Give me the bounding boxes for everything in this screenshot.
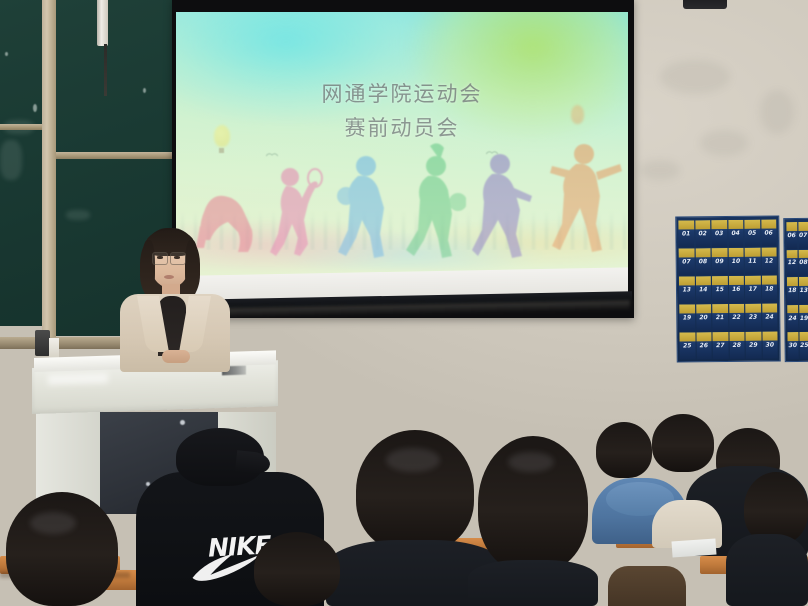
slide-title-line-2: 赛前动员会	[176, 112, 628, 142]
pocket-number: 18	[765, 286, 773, 293]
pocket-number: 08	[699, 258, 707, 265]
slide-title-line-1: 网通学院运动会	[176, 78, 628, 108]
pocket-number: 19	[800, 314, 808, 321]
pocket-number: 13	[800, 287, 808, 294]
chalk-speck	[33, 104, 37, 112]
pocket-25[interactable]: 25	[679, 332, 695, 359]
pocket-24[interactable]: 24	[762, 303, 778, 330]
pocket-number: 10	[732, 258, 740, 265]
presenter-eye	[157, 256, 163, 259]
pocket-number: 22	[732, 314, 740, 321]
chalkboard-rail	[0, 124, 48, 130]
audience-head	[6, 492, 118, 606]
hanging-cable	[104, 44, 107, 96]
hair-highlight	[508, 452, 554, 472]
pocket-side-30[interactable]: 30	[787, 332, 798, 359]
presenter-hair-side	[142, 240, 155, 296]
pocket-02[interactable]: 02	[695, 220, 711, 247]
pocket-20[interactable]: 20	[696, 304, 712, 331]
pocket-14[interactable]: 14	[695, 276, 711, 303]
pocket-number: 24	[788, 315, 796, 322]
pocket-number: 16	[732, 286, 740, 293]
pocket-side-18[interactable]: 18	[787, 277, 798, 304]
pocket-22[interactable]: 22	[729, 304, 745, 331]
presenter-mouth	[164, 275, 174, 279]
athlete-tennis-silhouette	[268, 164, 324, 260]
pocket-number: 08	[799, 259, 807, 266]
pocket-side-07[interactable]: 07	[798, 222, 808, 249]
pocket-12[interactable]: 12	[761, 247, 777, 274]
audience-head	[596, 422, 652, 478]
chalk-stick[interactable]	[49, 338, 59, 358]
presenter	[118, 222, 236, 368]
presenter-eye	[174, 256, 180, 259]
hair-highlight	[386, 448, 440, 472]
athlete-runner-silhouette	[544, 138, 622, 256]
chalk-speck	[5, 52, 8, 56]
bird-icon	[266, 152, 278, 157]
chalkboard-rail	[46, 152, 174, 159]
pocket-number: 29	[749, 342, 757, 349]
pocket-10[interactable]: 10	[728, 248, 744, 275]
pocket-13[interactable]: 13	[679, 276, 695, 303]
pocket-11[interactable]: 11	[745, 248, 761, 275]
pocket-side-08[interactable]: 08	[798, 249, 808, 276]
athlete-basketball-silhouette	[332, 152, 396, 262]
wall-smudge	[700, 130, 748, 156]
pocket-08[interactable]: 08	[695, 248, 711, 275]
presenter-hair-side	[185, 240, 198, 296]
pocket-21[interactable]: 21	[712, 304, 728, 331]
hair-highlight	[30, 512, 76, 534]
wall-smudge	[640, 160, 680, 180]
ceiling-fixture-icon	[683, 0, 727, 9]
pocket-03[interactable]: 03	[711, 220, 727, 247]
pocket-number: 12	[788, 259, 796, 266]
chalkboard-frame	[42, 0, 56, 346]
recess-speck	[180, 420, 185, 425]
pocket-number: 27	[716, 342, 724, 349]
pocket-04[interactable]: 04	[728, 220, 744, 247]
chalk-streak	[0, 140, 22, 180]
pocket-side-12[interactable]: 12	[787, 250, 798, 277]
pocket-number: 11	[748, 258, 756, 265]
pocket-number: 04	[731, 230, 739, 237]
pocket-30[interactable]: 30	[762, 331, 778, 358]
pocket-number: 05	[748, 230, 756, 237]
pocket-number: 24	[765, 314, 773, 321]
pocket-number: 02	[698, 230, 706, 237]
pocket-06[interactable]: 06	[761, 219, 777, 246]
pocket-26[interactable]: 26	[696, 332, 712, 359]
projected-slide: 网通学院运动会 赛前动员会	[176, 12, 628, 276]
pocket-number: 15	[716, 286, 724, 293]
pocket-number: 07	[682, 258, 690, 265]
pocket-16[interactable]: 16	[728, 276, 744, 303]
pocket-number: 26	[700, 342, 708, 349]
chalk-streak	[66, 210, 90, 220]
pocket-number: 03	[715, 230, 723, 237]
pocket-number: 21	[716, 314, 724, 321]
athlete-soccer-silhouette	[472, 150, 538, 262]
pocket-chart-organizer[interactable]: 0102030405060708091011121314151617181920…	[675, 215, 781, 362]
pocket-side-24[interactable]: 24	[787, 305, 798, 332]
pocket-07[interactable]: 07	[679, 248, 695, 275]
audience-head	[652, 414, 714, 472]
pocket-01[interactable]: 01	[678, 220, 694, 247]
athlete-volleyball-silhouette	[406, 140, 466, 260]
pocket-number: 06	[787, 232, 795, 239]
pocket-number: 17	[749, 286, 757, 293]
audience-body	[726, 534, 808, 606]
pocket-05[interactable]: 05	[744, 220, 760, 247]
pocket-17[interactable]: 17	[745, 276, 761, 303]
pocket-side-06[interactable]: 06	[786, 222, 797, 249]
wall-smudge	[760, 90, 794, 134]
pocket-number: 12	[765, 258, 773, 265]
pocket-side-19[interactable]: 19	[799, 305, 808, 332]
pocket-number: 25	[800, 342, 808, 349]
pocket-number: 28	[733, 342, 741, 349]
pocket-29[interactable]: 29	[745, 332, 761, 359]
pocket-number: 07	[799, 232, 807, 239]
pocket-23[interactable]: 23	[745, 304, 761, 331]
pocket-chart-organizer-secondary[interactable]: 06071208181324193025	[783, 218, 808, 362]
board-eraser[interactable]	[35, 330, 50, 356]
pocket-15[interactable]: 15	[712, 276, 728, 303]
pocket-number: 30	[789, 342, 797, 349]
pocket-number: 13	[683, 286, 691, 293]
ceiling-pipe	[97, 0, 108, 46]
podium-highlight	[48, 373, 108, 385]
pocket-side-13[interactable]: 13	[798, 277, 808, 304]
pocket-number: 01	[682, 230, 690, 237]
pocket-number: 25	[683, 342, 691, 349]
wall-smudge	[660, 60, 730, 94]
pocket-number: 20	[699, 314, 707, 321]
pocket-27[interactable]: 27	[712, 332, 728, 359]
pocket-09[interactable]: 09	[712, 248, 728, 275]
balloon-basket-icon	[219, 148, 224, 153]
presenter-hands	[162, 350, 190, 363]
pocket-number: 06	[764, 230, 772, 237]
pocket-18[interactable]: 18	[761, 275, 777, 302]
chalk-speck	[143, 88, 146, 93]
audience-body	[468, 560, 598, 606]
pocket-number: 30	[766, 342, 774, 349]
pocket-number: 23	[749, 314, 757, 321]
audience-brown-sleeve	[608, 566, 686, 606]
pocket-number: 18	[788, 287, 796, 294]
pocket-number: 14	[699, 286, 707, 293]
classroom-photo-scene: 网通学院运动会 赛前动员会 01020304050607080910111213…	[0, 0, 808, 606]
pocket-number: 09	[715, 258, 723, 265]
pocket-number: 19	[683, 314, 691, 321]
pocket-side-25[interactable]: 25	[799, 332, 808, 359]
audience-paper-sheet	[671, 538, 716, 557]
pocket-28[interactable]: 28	[729, 332, 745, 359]
pocket-19[interactable]: 19	[679, 304, 695, 331]
audience-head	[254, 532, 340, 606]
